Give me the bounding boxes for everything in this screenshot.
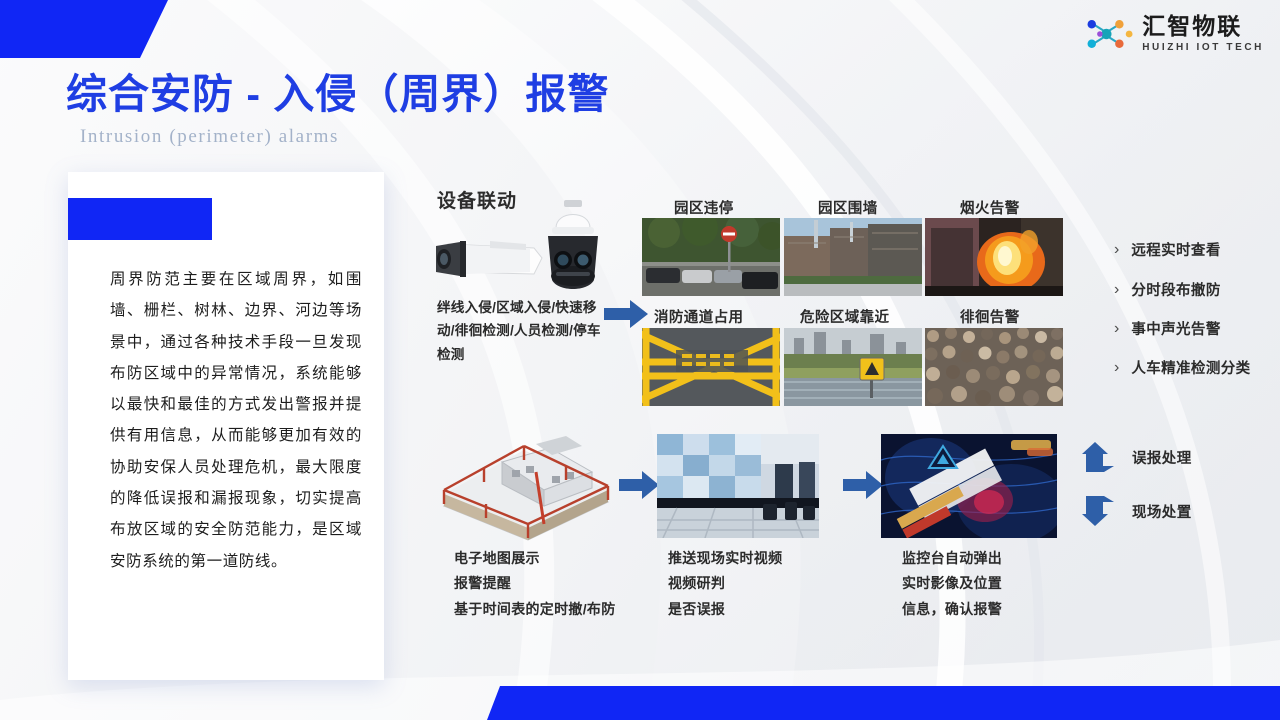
flow-image-0 — [432, 428, 622, 542]
flow-arrow-right-icon — [604, 298, 648, 330]
scene-label-4: 危险区域靠近 — [800, 306, 889, 327]
feature-item-3[interactable]: › 人车精准检测分类 — [1114, 357, 1251, 378]
scene-label-2: 烟火告警 — [960, 197, 1020, 218]
feature-label-1: 分时段布撤防 — [1131, 279, 1220, 300]
logo-company-name-en: HUIZHI IOT TECH — [1142, 43, 1264, 53]
flow-caption-0: 电子地图展示 报警提醒 基于时间表的定时撤/布防 — [454, 546, 616, 622]
bullet-camera-icon — [430, 228, 552, 290]
scene-label-5: 徘徊告警 — [960, 306, 1020, 327]
scene-thumb-3 — [642, 328, 780, 406]
outcome-item-1[interactable]: 现场处置 — [1082, 496, 1192, 526]
flow-image-1 — [657, 434, 819, 538]
scene-label-1: 园区围墙 — [818, 197, 878, 218]
feature-item-2[interactable]: › 事中声光告警 — [1114, 318, 1221, 339]
chevron-right-icon: › — [1114, 320, 1119, 338]
description-card: 周界防范主要在区域周界，如围墙、栅栏、树林、边界、河边等场景中，通过各种技术手段… — [68, 172, 384, 680]
scene-thumb-1 — [784, 218, 922, 296]
feature-item-1[interactable]: › 分时段布撤防 — [1114, 279, 1221, 300]
arrow-up-right-icon — [1082, 442, 1116, 472]
chevron-right-icon: › — [1114, 281, 1119, 299]
card-badge — [68, 198, 212, 240]
card-body-text: 周界防范主要在区域周界，如围墙、栅栏、树林、边界、河边等场景中，通过各种技术手段… — [110, 264, 362, 577]
scene-label-0: 园区违停 — [674, 197, 734, 218]
molecule-network-icon — [1082, 14, 1134, 54]
scene-thumb-4 — [784, 328, 922, 406]
outcome-label-1: 现场处置 — [1132, 501, 1192, 522]
brand-logo: 汇智物联 HUIZHI IOT TECH — [1082, 14, 1264, 54]
feature-label-3: 人车精准检测分类 — [1131, 357, 1250, 378]
flow-caption-2: 监控台自动弹出 实时影像及位置 信息，确认报警 — [902, 546, 1002, 622]
device-linkage-caption: 绊线入侵/区域入侵/快速移动/徘徊检测/人员检测/停车检测 — [437, 296, 603, 366]
flow-arrow-right-icon-1 — [619, 470, 659, 500]
chevron-right-icon: › — [1114, 359, 1119, 377]
chevron-right-icon: › — [1114, 241, 1119, 259]
ptz-dome-camera-icon — [538, 198, 608, 296]
logo-company-name-cn: 汇智物联 — [1142, 15, 1264, 38]
page-subtitle: Intrusion (perimeter) alarms — [80, 126, 339, 148]
flow-caption-1: 推送现场实时视频 视频研判 是否误报 — [668, 546, 782, 622]
feature-label-2: 事中声光告警 — [1131, 318, 1220, 339]
arrow-down-right-icon — [1082, 496, 1116, 526]
outcome-label-0: 误报处理 — [1132, 447, 1192, 468]
flow-image-2 — [881, 434, 1057, 538]
feature-label-0: 远程实时查看 — [1131, 239, 1220, 260]
feature-item-0[interactable]: › 远程实时查看 — [1114, 239, 1221, 260]
page-title: 综合安防 - 入侵（周界）报警 — [66, 60, 609, 120]
scene-thumb-0 — [642, 218, 780, 296]
outcome-item-0[interactable]: 误报处理 — [1082, 442, 1192, 472]
scene-thumb-2 — [925, 218, 1063, 296]
top-left-accent-shape — [0, 0, 168, 58]
scene-thumb-5 — [925, 328, 1063, 406]
scene-label-3: 消防通道占用 — [654, 306, 743, 327]
flow-arrow-right-icon-2 — [843, 470, 883, 500]
section-title-device-linkage: 设备联动 — [437, 186, 517, 213]
